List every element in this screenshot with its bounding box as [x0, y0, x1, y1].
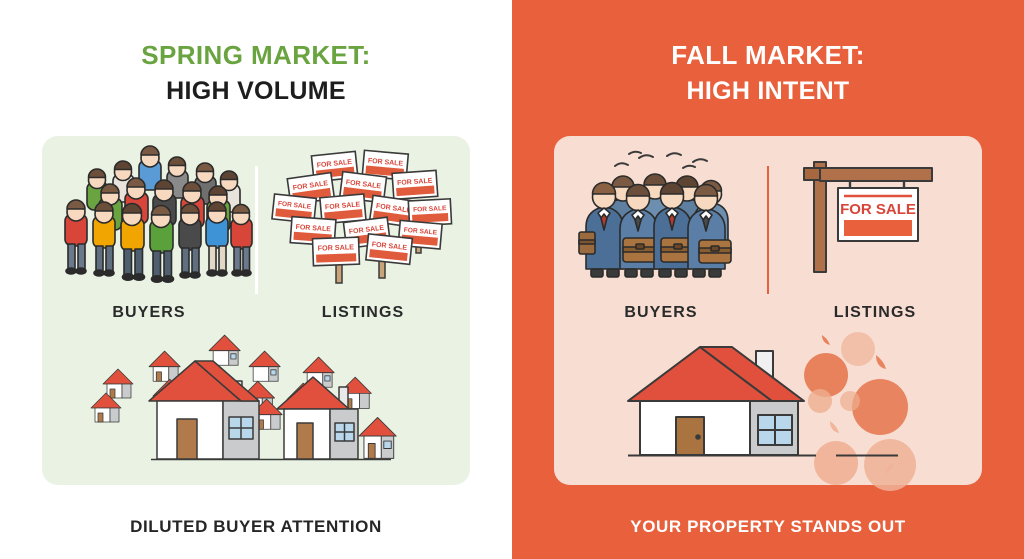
- for-sale-sign-text: FOR SALE: [840, 201, 916, 218]
- single-sign-illustration: FOR SALE: [768, 148, 982, 288]
- spring-top-row: BUYERS: [42, 148, 470, 328]
- many-for-sale-signs-icon: FOR SALE FOR SALE: [273, 148, 453, 288]
- fall-buyers-column: BUYERS: [554, 148, 768, 328]
- panel-spring-market: SPRING MARKET: HIGH VOLUME: [0, 0, 512, 559]
- spring-heading-line2: HIGH VOLUME: [0, 77, 512, 106]
- fall-card: BUYERS: [554, 136, 982, 485]
- fall-heading-line2: HIGH INTENT: [512, 77, 1024, 106]
- spring-heading: SPRING MARKET: HIGH VOLUME: [0, 40, 512, 106]
- spring-buyers-label: BUYERS: [42, 304, 256, 322]
- spring-listings-column: FOR SALE FOR SALE: [256, 148, 470, 328]
- market-comparison-infographic: SPRING MARKET: HIGH VOLUME: [0, 0, 1024, 559]
- spring-caption: DILUTED BUYER ATTENTION: [0, 517, 512, 537]
- business-people-illustration: [554, 148, 768, 288]
- many-houses-illustration: [42, 328, 470, 478]
- spring-heading-line1: SPRING MARKET:: [0, 40, 512, 71]
- spring-buyers-column: BUYERS: [42, 148, 256, 328]
- single-house-illustration: [554, 328, 982, 478]
- svg-text:FOR SALE: FOR SALE: [318, 242, 355, 252]
- fall-buyers-label: BUYERS: [554, 304, 768, 322]
- fall-listings-label: LISTINGS: [768, 304, 982, 322]
- crowd-illustration: [42, 148, 256, 288]
- for-sale-sign-icon: FOR SALE: [800, 148, 950, 288]
- many-houses-icon: [91, 329, 421, 477]
- business-people-icon: [571, 148, 751, 288]
- fall-listings-column: FOR SALE LISTINGS: [768, 148, 982, 328]
- casual-crowd-icon: [47, 148, 252, 288]
- fall-heading: FALL MARKET: HIGH INTENT: [512, 40, 1024, 106]
- panel-fall-market: FALL MARKET: HIGH INTENT: [512, 0, 1024, 559]
- fall-heading-line1: FALL MARKET:: [512, 40, 1024, 71]
- single-house-icon: [608, 329, 928, 477]
- spring-listings-label: LISTINGS: [256, 304, 470, 322]
- fall-top-row: BUYERS: [554, 148, 982, 328]
- many-signs-illustration: FOR SALE FOR SALE: [256, 148, 470, 288]
- spring-card: BUYERS: [42, 136, 470, 485]
- fall-caption: YOUR PROPERTY STANDS OUT: [512, 517, 1024, 537]
